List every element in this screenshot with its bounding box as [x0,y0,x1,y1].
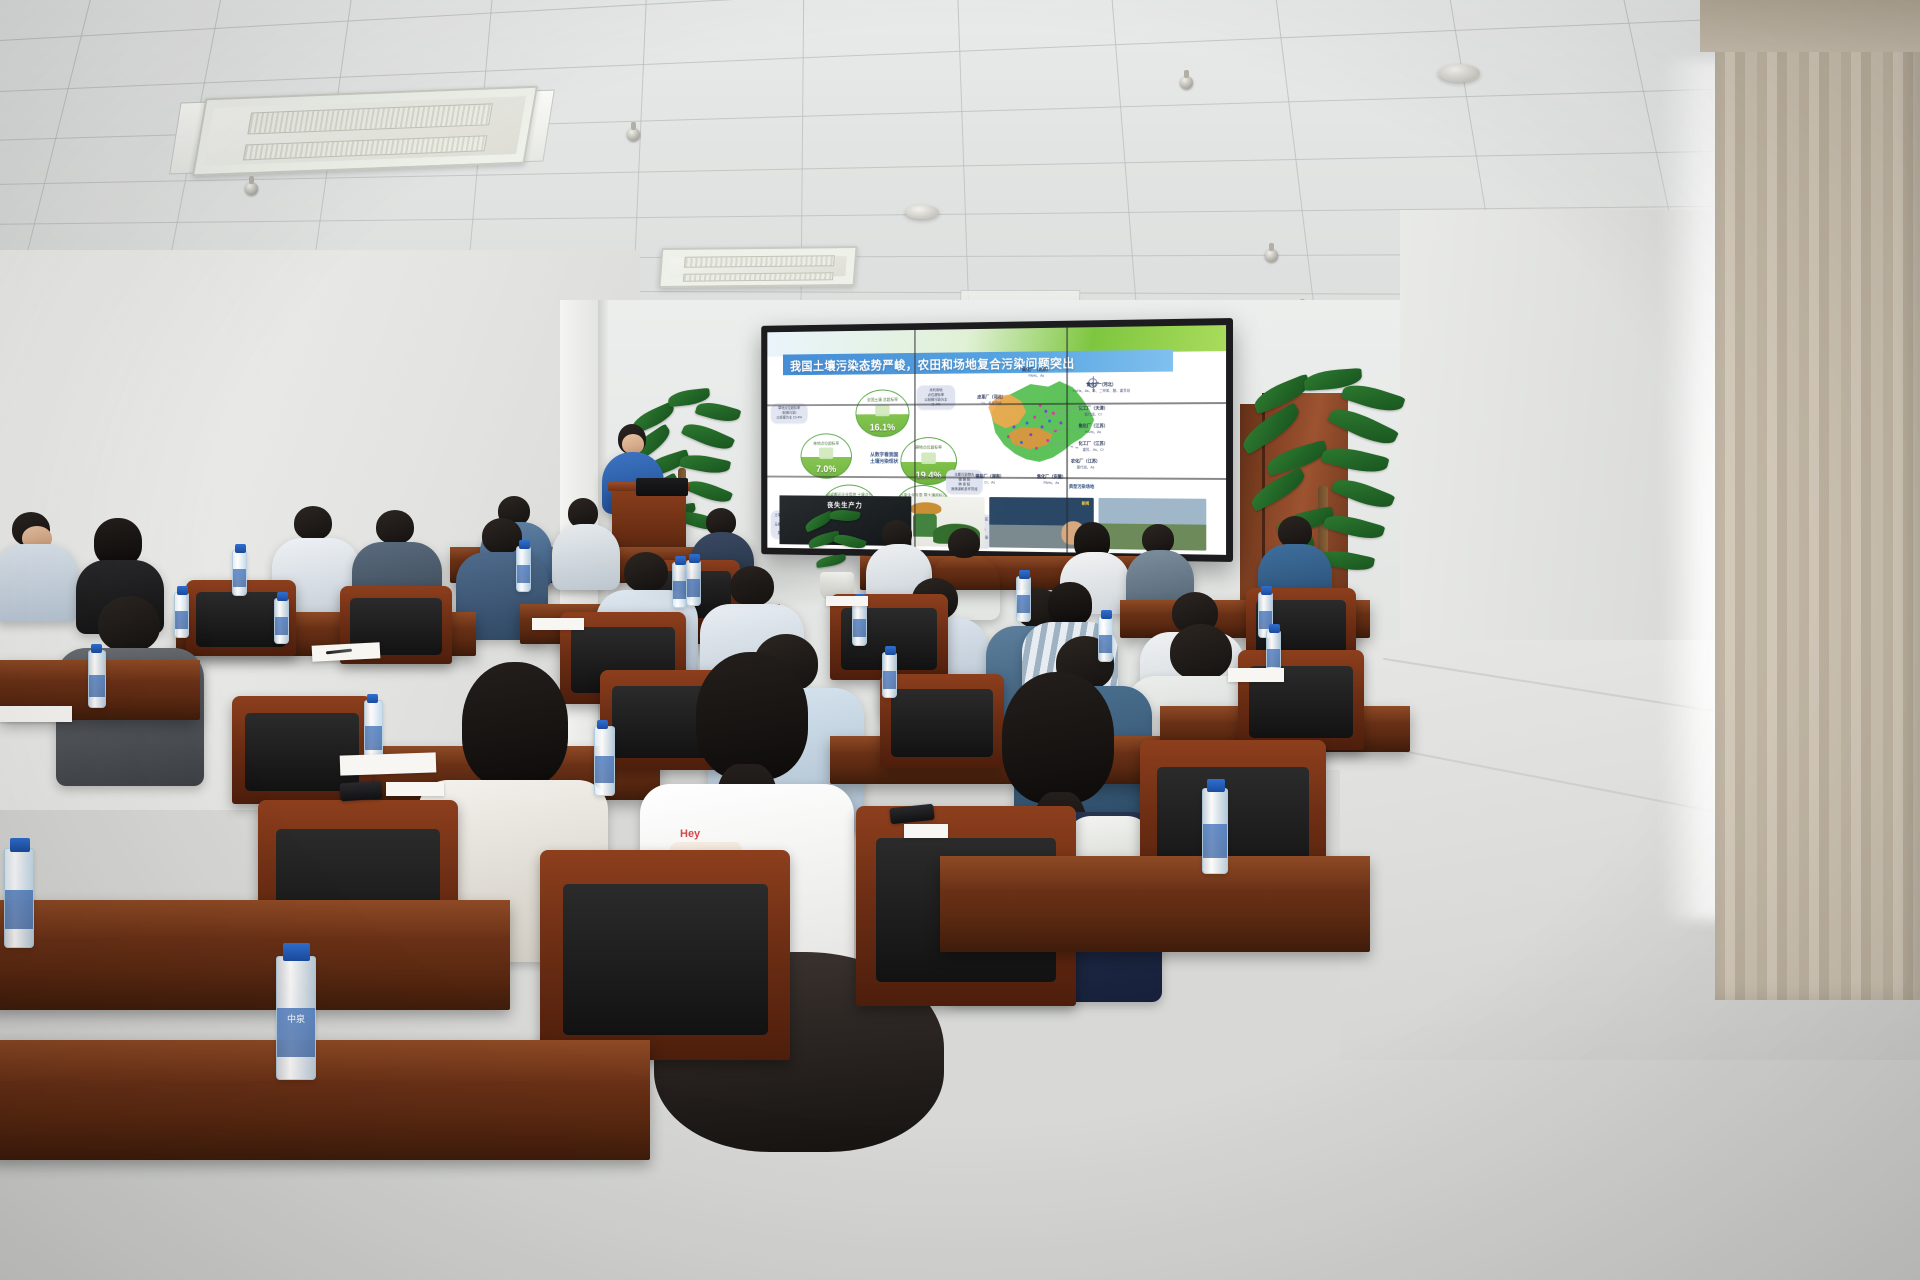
callout-grassland: 草地点位超标率 （轻微污染） 以轻度为主 10.4% [771,403,808,422]
water-bottle[interactable] [1098,616,1113,662]
factory-glyph-icon [819,448,833,459]
curtain-rail [1700,0,1920,52]
water-bottle[interactable] [274,598,289,644]
sprinkler-head [1180,76,1193,89]
map-point [1033,416,1035,419]
sprinkler-head [245,182,258,195]
chair[interactable] [540,850,790,1060]
desk [940,856,1370,952]
notebook[interactable] [0,706,72,722]
map-point [1044,410,1046,413]
panel-seam [914,330,916,550]
slide-centre-note: 从数字看我国 土壤污染现状 [866,452,902,466]
water-bottle[interactable]: 中泉 [276,956,316,1080]
callout-unused-land: 未利用地 点位超标率 以轻微污染为主 11.4% [917,385,955,410]
map-legend: 典型污染场地 [1069,484,1094,490]
map-point [1026,422,1028,425]
ceiling-speaker [905,205,939,219]
notebook[interactable] [1228,668,1284,682]
stat-bubble-national-soil: 全国土壤 总超标率 16.1% [855,389,909,437]
china-soil-pollution-map: 焦化厂（北京） PAHs、As 焦化厂（河北） PAHs、As、苯、二甲苯、酚、… [979,364,1136,494]
map-point [1035,447,1037,450]
water-bottle[interactable] [88,650,106,708]
map-label-site: 化工厂（天津） 氯代烃、Cr [1079,406,1108,418]
chair[interactable] [1238,650,1364,750]
presenter-laptop [636,478,688,496]
notebook[interactable] [532,618,584,630]
news-channel-label: 新闻 [1082,501,1090,507]
ceiling-speaker [1438,64,1480,82]
map-label-site: 焦化厂（北京） PAHs、As [1022,367,1051,379]
stat-bubble-value: 7.0% [816,465,836,475]
hair [1002,672,1114,804]
desk [0,1040,650,1160]
factory-glyph-icon [875,405,889,416]
notebook[interactable] [340,752,437,775]
water-bottle[interactable] [882,652,897,698]
map-point [1029,433,1031,436]
panel-seam [1066,328,1068,553]
notebook[interactable] [386,782,444,796]
water-bottle[interactable] [364,700,383,762]
water-bottle[interactable] [1016,576,1031,622]
map-point [1013,425,1015,428]
tshirt-graphic-text: Hey [680,828,716,840]
map-label-site: 农化厂（江苏） 氯代烃、As [1071,459,1100,471]
map-label-site: 焦化厂（安徽） PAHs、As [1037,474,1066,486]
stat-bubble-value: 16.1% [870,423,896,434]
notebook[interactable] [904,824,948,838]
water-bottle[interactable] [516,546,531,592]
water-bottle[interactable] [1202,788,1228,874]
water-bottle[interactable] [594,726,615,796]
conference-room-photo: 我国土壤污染态势严峻，农田和场地复合污染问题突出 全国土壤 总超标率 16.1%… [0,0,1920,1280]
hair [696,652,808,780]
sprinkler-head [627,128,640,141]
desk [0,900,510,1010]
stat-bubble-forest-land: 林地点位超标率 7.0% [801,433,852,479]
stat-bubble-caption: 耕地点位超标率 [901,445,956,450]
map-label-site: 焦化厂（河北） PAHs、As、苯、二甲苯、酚、重芳烃 [1073,382,1130,394]
map-point [1060,421,1062,424]
sprinkler-head [1265,249,1278,262]
map-point [1007,435,1009,438]
hair [462,662,568,788]
map-label-site: 焦化厂（江苏） PAHs、As [1079,423,1108,435]
video-caption: 丧失生产力 [827,500,863,510]
ceiling-air-conditioner [658,246,857,288]
map-label-site: 铬盐厂（湖南） Cr、As [975,474,1004,486]
stat-bubble-caption: 林地点位超标率 [801,441,851,446]
map-point [1046,439,1048,442]
ceiling-air-conditioner [192,86,538,177]
map-point [1048,420,1050,423]
water-bottle[interactable] [174,592,189,638]
water-bottle[interactable] [232,550,247,596]
map-point [1041,425,1043,428]
map-point [1020,441,1022,444]
smartphone[interactable] [339,781,382,802]
factory-glyph-icon [921,453,936,465]
map-label-site: 化工厂（江苏） 重芳、As、Cr [1079,441,1108,453]
presenter-face [622,434,644,454]
stat-bubble-caption: 全国土壤 总超标率 [856,397,908,402]
window-curtain [1715,0,1920,1000]
water-bottle[interactable] [4,848,34,948]
